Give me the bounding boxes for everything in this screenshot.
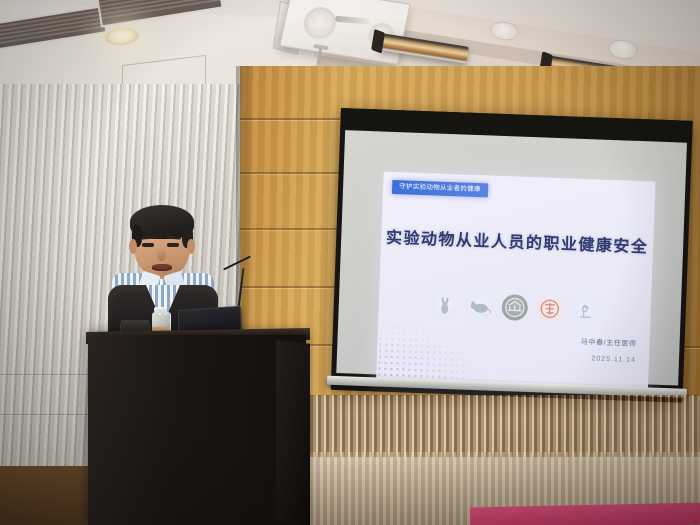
mouth [152,264,172,271]
institute-emblem-icon [501,294,528,321]
projection-screen: 守护实验动物从业者的健康 实验动物从业人员的职业健康安全 [331,108,693,403]
presentation-slide: 守护实验动物从业者的健康 实验动物从业人员的职业健康安全 [376,172,655,390]
screen-surface: 守护实验动物从业者的健康 实验动物从业人员的职业健康安全 [336,130,687,385]
eye [167,243,179,247]
lab-mouse-illustration-icon [466,293,493,320]
ear [129,239,137,254]
eye [142,243,154,247]
projector-lens-icon [301,5,339,41]
slide-date: 2025.11.14 [591,355,636,364]
lectern [88,335,306,525]
red-seal-emblem-icon [536,295,563,322]
microscope-illustration-icon [571,297,598,324]
projector-handle [335,16,372,25]
lectern-side-panel [276,340,310,525]
ear [187,239,195,254]
nose [157,248,166,261]
slide-halftone-decoration [376,317,492,387]
carpet-runner [470,503,700,525]
slide-author: 马中春/主任医师 [581,337,637,349]
slide-title: 实验动物从业人员的职业健康安全 [381,224,654,258]
conference-photo-scene: 守护实验动物从业者的健康 实验动物从业人员的职业健康安全 [0,0,700,525]
slide-banner-label: 守护实验动物从业者的健康 [392,180,488,197]
hair [130,205,194,239]
bottle-cap [154,307,167,313]
rabbit-illustration-icon [431,291,458,318]
